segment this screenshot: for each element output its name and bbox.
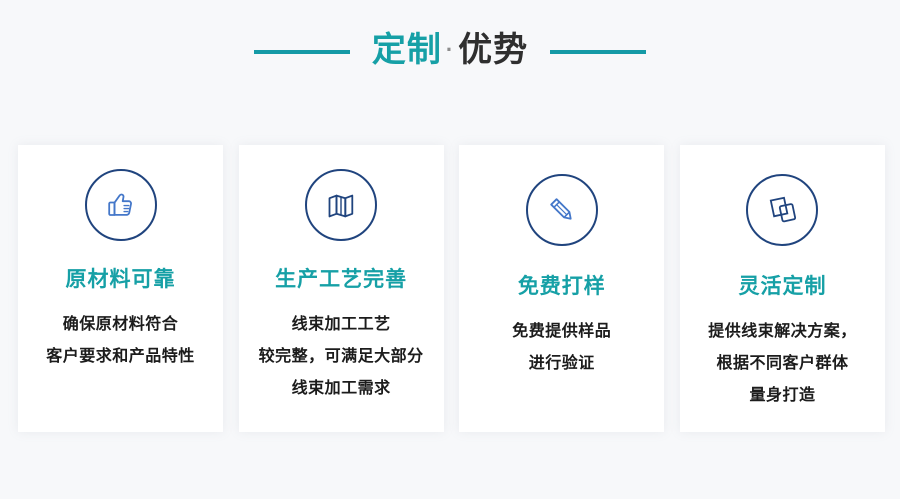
feature-card-title: 免费打样 bbox=[518, 274, 606, 300]
feature-card-body-line: 确保原材料符合 bbox=[46, 309, 195, 341]
feature-card-process[interactable]: 生产工艺完善 线束加工工艺 较完整，可满足大部分 线束加工需求 bbox=[239, 145, 444, 432]
feature-card-body-line: 线束加工需求 bbox=[259, 373, 424, 405]
feature-card-body: 线束加工工艺 较完整，可满足大部分 线束加工需求 bbox=[251, 309, 432, 405]
stacked-cards-icon bbox=[762, 190, 802, 230]
feature-card-sample[interactable]: 免费打样 免费提供样品 进行验证 bbox=[459, 145, 664, 432]
thumbs-up-icon bbox=[101, 185, 141, 225]
feature-card-body-line: 线束加工工艺 bbox=[259, 309, 424, 341]
pencil-icon bbox=[542, 190, 582, 230]
heading-rule-left bbox=[254, 50, 350, 54]
page-title-separator: · bbox=[442, 37, 458, 62]
feature-card-material[interactable]: 原材料可靠 确保原材料符合 客户要求和产品特性 bbox=[18, 145, 223, 432]
feature-card-title: 生产工艺完善 bbox=[275, 267, 407, 293]
feature-card-body: 确保原材料符合 客户要求和产品特性 bbox=[38, 309, 203, 373]
feature-card-title: 灵活定制 bbox=[738, 274, 826, 300]
feature-card-body-line: 客户要求和产品特性 bbox=[46, 341, 195, 373]
icon-ring bbox=[746, 174, 818, 246]
page-title-main: 优势 bbox=[458, 31, 528, 69]
icon-ring bbox=[305, 169, 377, 241]
promo-section: 定制·优势 原材料可靠 确保原材料符合 客户要求和产品特性 bbox=[0, 0, 900, 499]
feature-card-body: 提供线束解决方案， 根据不同客户群体 量身打造 bbox=[700, 316, 865, 412]
feature-card-body: 免费提供样品 进行验证 bbox=[504, 316, 619, 380]
page-title: 定制·优势 bbox=[372, 30, 528, 74]
feature-card-title: 原材料可靠 bbox=[66, 267, 176, 293]
folded-map-icon bbox=[321, 185, 361, 225]
icon-ring bbox=[526, 174, 598, 246]
feature-card-custom[interactable]: 灵活定制 提供线束解决方案， 根据不同客户群体 量身打造 bbox=[680, 145, 885, 432]
heading-rule-right bbox=[550, 50, 646, 54]
feature-card-body-line: 进行验证 bbox=[512, 348, 611, 380]
feature-card-body-line: 免费提供样品 bbox=[512, 316, 611, 348]
feature-card-body-line: 根据不同客户群体 bbox=[708, 348, 857, 380]
feature-card-body-line: 较完整，可满足大部分 bbox=[259, 341, 424, 373]
section-heading: 定制·优势 bbox=[0, 30, 900, 74]
icon-ring bbox=[85, 169, 157, 241]
feature-card-body-line: 提供线束解决方案， bbox=[708, 316, 857, 348]
feature-card-body-line: 量身打造 bbox=[708, 380, 857, 412]
feature-card-list: 原材料可靠 确保原材料符合 客户要求和产品特性 生产工艺完善 bbox=[18, 145, 885, 432]
page-title-accent: 定制 bbox=[372, 31, 442, 69]
